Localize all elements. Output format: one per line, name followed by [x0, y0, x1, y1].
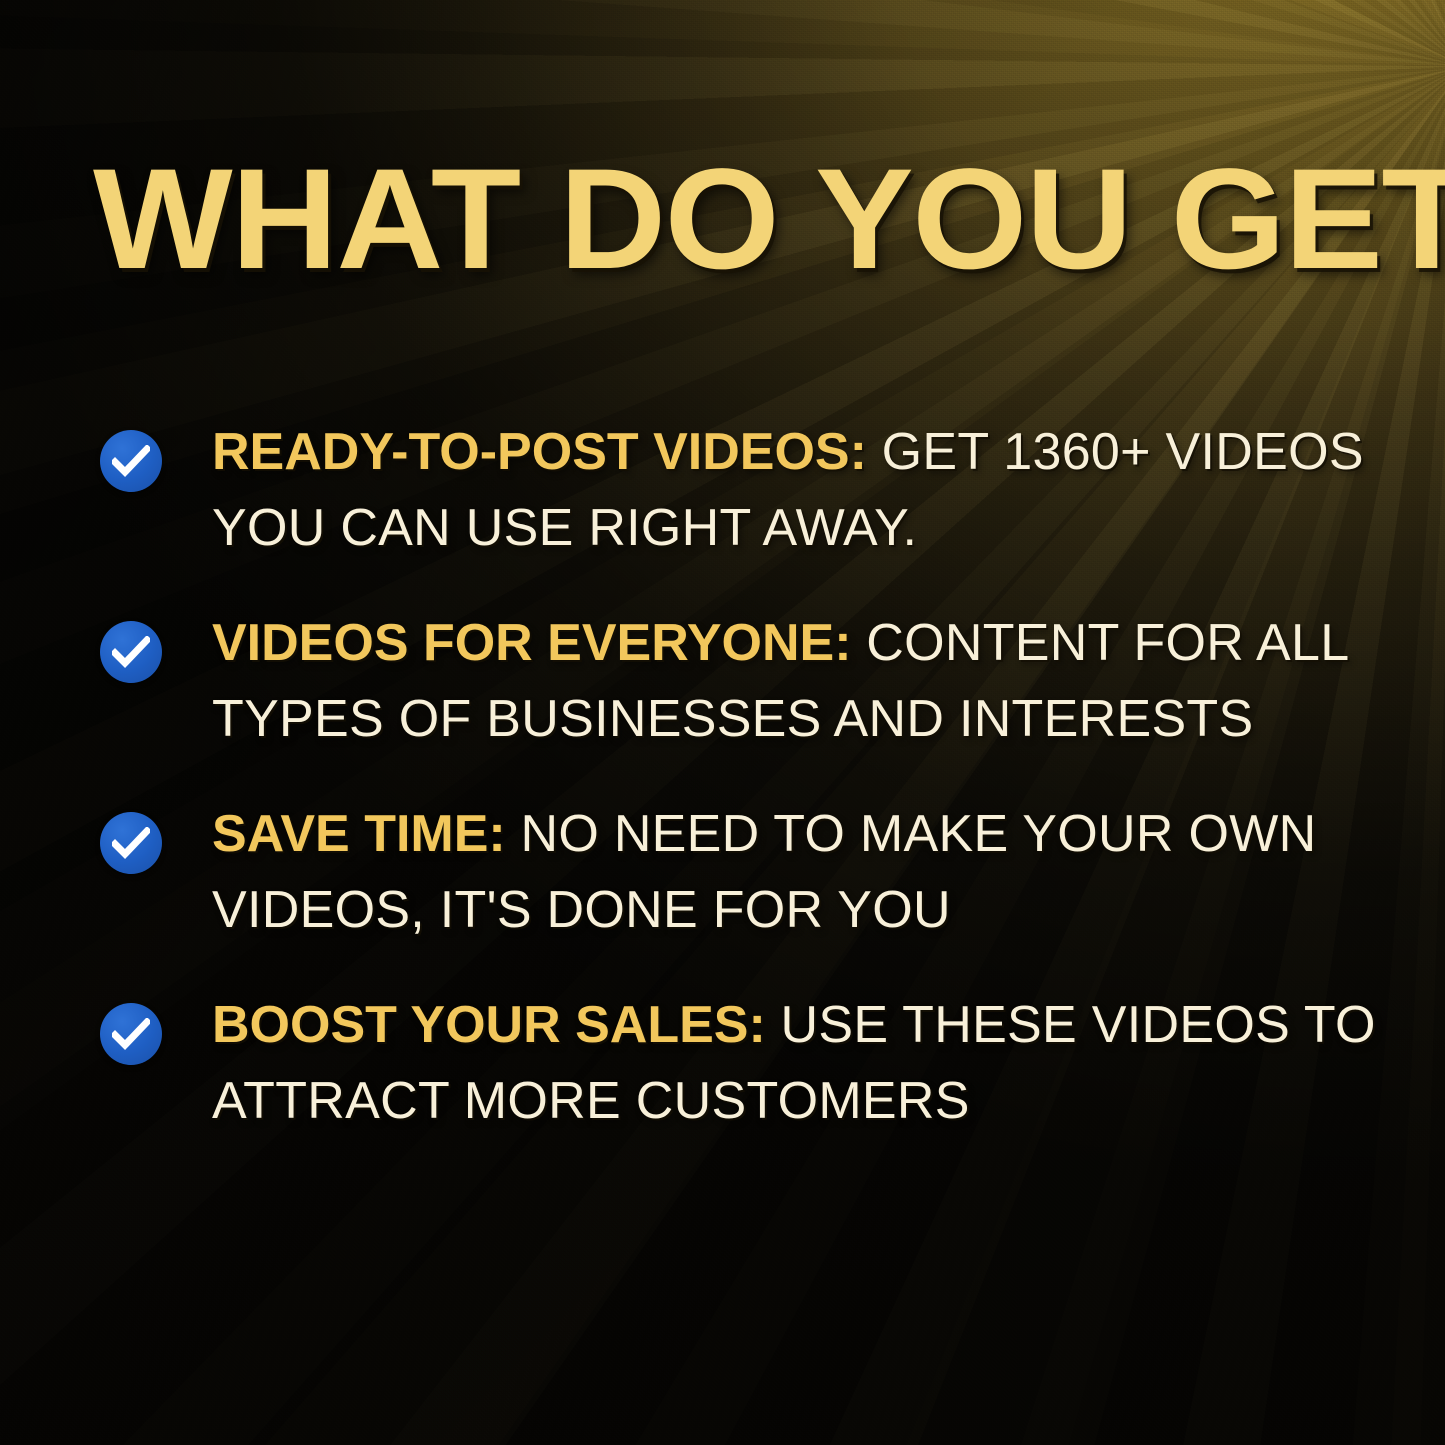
check-circle-icon [100, 812, 162, 874]
list-item-text: BOOST YOUR SALES: USE THESE VIDEOS TO AT… [212, 987, 1445, 1140]
list-item-lead: SAVE TIME: [212, 805, 506, 863]
list-item: VIDEOS FOR EVERYONE: CONTENT FOR ALL TYP… [0, 605, 1445, 758]
check-circle-icon [100, 1003, 162, 1065]
check-circle-icon [100, 621, 162, 683]
list-item: SAVE TIME: NO NEED TO MAKE YOUR OWN VIDE… [0, 796, 1445, 949]
list-item: READY-TO-POST VIDEOS: GET 1360+ VIDEOS Y… [0, 414, 1445, 567]
poster-content: WHAT DO YOU GET.. READY-TO-POST VIDEOS: … [0, 0, 1445, 1445]
list-item: BOOST YOUR SALES: USE THESE VIDEOS TO AT… [0, 987, 1445, 1140]
list-item-lead: BOOST YOUR SALES: [212, 996, 766, 1054]
page-title: WHAT DO YOU GET.. [93, 148, 1439, 291]
promo-poster: WHAT DO YOU GET.. READY-TO-POST VIDEOS: … [0, 0, 1445, 1445]
list-item-text: VIDEOS FOR EVERYONE: CONTENT FOR ALL TYP… [212, 605, 1445, 758]
list-item-text: READY-TO-POST VIDEOS: GET 1360+ VIDEOS Y… [212, 414, 1445, 567]
benefits-list: READY-TO-POST VIDEOS: GET 1360+ VIDEOS Y… [0, 414, 1445, 1140]
list-item-lead: VIDEOS FOR EVERYONE: [212, 614, 852, 672]
list-item-text: SAVE TIME: NO NEED TO MAKE YOUR OWN VIDE… [212, 796, 1445, 949]
list-item-lead: READY-TO-POST VIDEOS: [212, 423, 867, 481]
check-circle-icon [100, 430, 162, 492]
